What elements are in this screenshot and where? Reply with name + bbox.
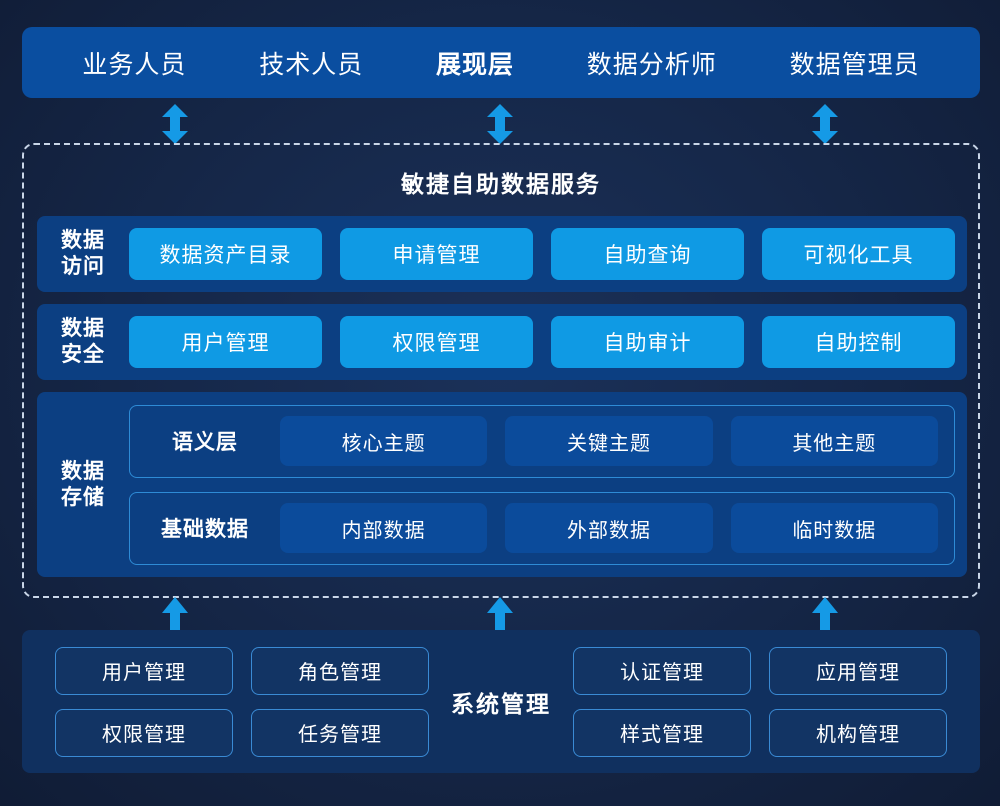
double-arrow-icon-left [160,104,190,144]
chip-data-asset-catalog[interactable]: 数据资产目录 [129,228,322,280]
data-storage-groups: 语义层 核心主题 关键主题 其他主题 基础数据 内部数据 外部数据 临时数据 [129,405,967,565]
data-security-label: 数据 安全 [37,316,129,367]
chip-self-service-audit[interactable]: 自助审计 [551,316,744,368]
data-storage-band: 数据 存储 语义层 核心主题 关键主题 其他主题 基础数据 内部数据 外 [37,392,967,577]
up-arrow-icon-center [485,597,515,633]
system-management-left-row-2: 权限管理 任务管理 [55,709,429,757]
role-data-analyst: 数据分析师 [587,45,717,81]
chip-user-management[interactable]: 用户管理 [129,316,322,368]
chip-external-data[interactable]: 外部数据 [505,503,712,553]
data-security-label-line2: 安全 [37,342,129,368]
sys-chip-authentication-management[interactable]: 认证管理 [573,647,751,695]
system-management-right-row-1: 认证管理 应用管理 [573,647,947,695]
double-arrow-icon-right [810,104,840,144]
sys-chip-organization-management[interactable]: 机构管理 [769,709,947,757]
chip-application-management[interactable]: 申请管理 [340,228,533,280]
agile-data-service-region: 敏捷自助数据服务 数据 访问 数据资产目录 申请管理 自助查询 可视化工具 数据… [22,143,980,598]
base-data-items: 内部数据 外部数据 临时数据 [280,503,938,553]
role-business-staff: 业务人员 [82,45,186,81]
data-access-label: 数据 访问 [37,228,129,279]
data-security-label-line1: 数据 [37,316,129,342]
system-management-title: 系统管理 [437,685,565,719]
sys-chip-style-management[interactable]: 样式管理 [573,709,751,757]
chip-temporary-data[interactable]: 临时数据 [731,503,938,553]
system-management-left-cluster: 用户管理 角色管理 权限管理 任务管理 [55,647,429,757]
data-storage-label: 数据 存储 [37,459,129,510]
diagram-canvas: 业务人员 技术人员 展现层 数据分析师 数据管理员 敏捷自助数据服务 数据 访问 [0,0,1000,806]
data-access-label-line2: 访问 [37,254,129,280]
role-presentation-layer: 展现层 [436,45,514,81]
sys-chip-permission-management[interactable]: 权限管理 [55,709,233,757]
sys-chip-role-management[interactable]: 角色管理 [251,647,429,695]
semantic-layer-label: 语义层 [146,426,264,456]
sys-chip-task-management[interactable]: 任务管理 [251,709,429,757]
data-storage-label-line1: 数据 [37,459,129,485]
sys-chip-user-management[interactable]: 用户管理 [55,647,233,695]
semantic-layer-group: 语义层 核心主题 关键主题 其他主题 [129,405,955,478]
chip-self-service-control[interactable]: 自助控制 [762,316,955,368]
base-data-group: 基础数据 内部数据 外部数据 临时数据 [129,492,955,565]
chip-permission-management[interactable]: 权限管理 [340,316,533,368]
up-arrow-icon-right [810,597,840,633]
system-management-right-cluster: 认证管理 应用管理 样式管理 机构管理 [573,647,947,757]
chip-visualization-tools[interactable]: 可视化工具 [762,228,955,280]
role-technical-staff: 技术人员 [259,45,363,81]
data-security-items: 用户管理 权限管理 自助审计 自助控制 [129,316,967,368]
chip-other-subject[interactable]: 其他主题 [731,416,938,466]
data-access-band: 数据 访问 数据资产目录 申请管理 自助查询 可视化工具 [37,216,967,292]
base-data-label: 基础数据 [146,513,264,543]
chip-self-service-query[interactable]: 自助查询 [551,228,744,280]
data-storage-label-line2: 存储 [37,485,129,511]
chip-key-subject[interactable]: 关键主题 [505,416,712,466]
data-access-label-line1: 数据 [37,228,129,254]
data-access-items: 数据资产目录 申请管理 自助查询 可视化工具 [129,228,967,280]
system-management-left-row-1: 用户管理 角色管理 [55,647,429,695]
role-data-administrator: 数据管理员 [790,45,920,81]
presentation-layer-bar: 业务人员 技术人员 展现层 数据分析师 数据管理员 [22,27,980,98]
double-arrow-icon-center [485,104,515,144]
system-management-right-row-2: 样式管理 机构管理 [573,709,947,757]
chip-internal-data[interactable]: 内部数据 [280,503,487,553]
chip-core-subject[interactable]: 核心主题 [280,416,487,466]
data-security-band: 数据 安全 用户管理 权限管理 自助审计 自助控制 [37,304,967,380]
semantic-layer-items: 核心主题 关键主题 其他主题 [280,416,938,466]
system-management-panel: 用户管理 角色管理 权限管理 任务管理 系统管理 认证管理 应用管理 样式管理 … [22,630,980,773]
up-arrow-icon-left [160,597,190,633]
sys-chip-application-management[interactable]: 应用管理 [769,647,947,695]
service-region-title: 敏捷自助数据服务 [24,165,978,199]
